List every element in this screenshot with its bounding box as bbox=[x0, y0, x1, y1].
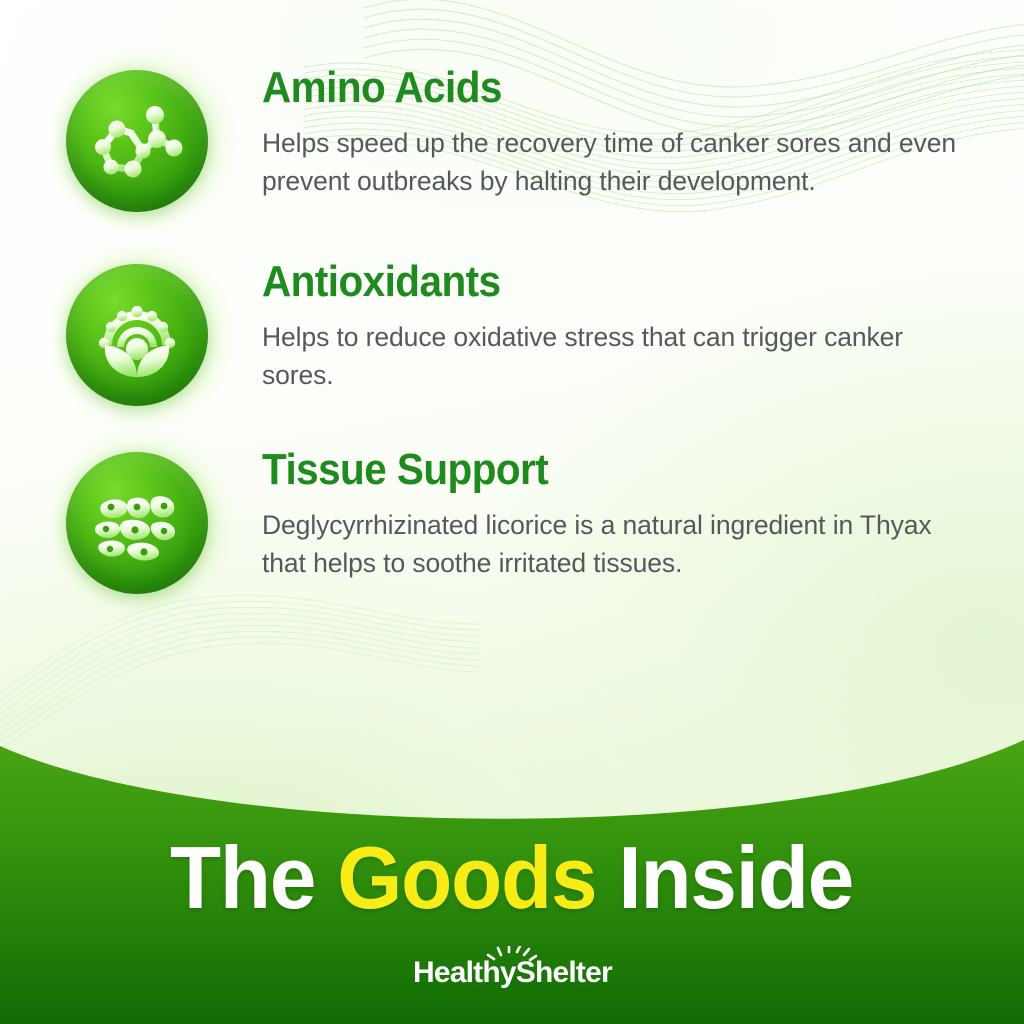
headline-part-2: Inside bbox=[597, 828, 854, 927]
feature-description: Helps speed up the recovery time of cank… bbox=[262, 125, 962, 200]
infographic-poster: Amino Acids Helps speed up the recovery … bbox=[0, 0, 1024, 1024]
icon-badge-wrapper bbox=[66, 64, 262, 214]
tissue-cells-icon bbox=[87, 473, 187, 573]
headline-part-1: The bbox=[170, 828, 337, 927]
feature-description: Deglycyrrhizinated licorice is a natural… bbox=[262, 507, 962, 582]
feature-row-amino-acids: Amino Acids Helps speed up the recovery … bbox=[66, 64, 964, 214]
feature-title: Tissue Support bbox=[262, 448, 908, 492]
logo-text-part1: Healthy bbox=[413, 956, 517, 989]
feature-row-tissue-support: Tissue Support Deglycyrrhizinated licori… bbox=[66, 446, 964, 596]
icon-badge-wrapper bbox=[66, 446, 262, 596]
logo-text-part2: Shelter bbox=[516, 956, 613, 989]
badge-circle bbox=[66, 452, 208, 594]
banner-headline: The Goods Inside bbox=[170, 834, 853, 922]
badge-circle bbox=[66, 70, 208, 212]
svg-text:HealthyShelter: HealthyShelter bbox=[413, 956, 613, 989]
feature-row-antioxidants: Antioxidants Helps to reduce oxidative s… bbox=[66, 258, 964, 408]
feature-list: Amino Acids Helps speed up the recovery … bbox=[0, 0, 1024, 640]
feature-title: Antioxidants bbox=[262, 260, 908, 304]
molecule-icon bbox=[87, 91, 187, 191]
logo-graphic: HealthyShelter bbox=[397, 946, 627, 990]
banner-content: The Goods Inside HealthyShelter bbox=[0, 724, 1024, 1024]
feature-text-block: Amino Acids Helps speed up the recovery … bbox=[262, 64, 964, 200]
feature-description: Helps to reduce oxidative stress that ca… bbox=[262, 319, 962, 394]
healthy-shelter-logo[interactable]: HealthyShelter bbox=[397, 946, 627, 990]
badge-circle bbox=[66, 264, 208, 406]
headline-highlight: Goods bbox=[338, 828, 597, 927]
feature-title: Amino Acids bbox=[262, 66, 908, 110]
icon-badge-wrapper bbox=[66, 258, 262, 408]
antioxidant-leaf-icon bbox=[87, 285, 187, 385]
feature-text-block: Antioxidants Helps to reduce oxidative s… bbox=[262, 258, 964, 394]
bottom-banner: The Goods Inside HealthyShelter bbox=[0, 724, 1024, 1024]
feature-text-block: Tissue Support Deglycyrrhizinated licori… bbox=[262, 446, 964, 582]
